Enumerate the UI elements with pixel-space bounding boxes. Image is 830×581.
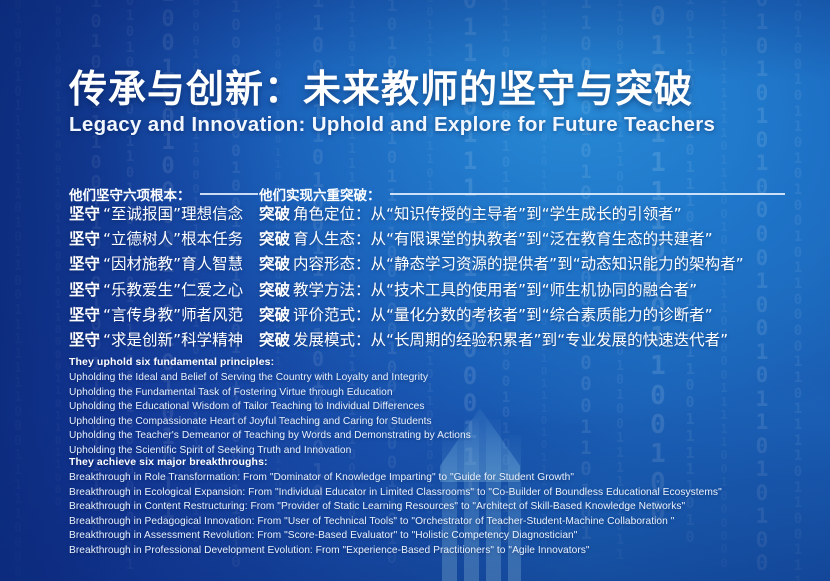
list-item-body: 教学方法：从“技术工具的使用者”到“师生机协同的融合者” [293, 281, 697, 299]
list-item-body: “言传身教”师者风范 [103, 306, 243, 324]
list-item-body: 评价范式：从“量化分数的考核者”到“综合素质能力的诊断者” [293, 306, 713, 324]
list-item-body: 角色定位：从“知识传授的主导者”到“学生成长的引领者” [293, 205, 682, 223]
list-item: Breakthrough in Professional Development… [69, 544, 722, 559]
en-breakthroughs-heading: They achieve six major breakthroughs: [69, 456, 722, 468]
list-item-tag: 坚守 [69, 205, 100, 223]
list-item-body: “至诚报国”理想信念 [103, 205, 243, 223]
list-item: 突破教学方法：从“技术工具的使用者”到“师生机协同的融合者” [259, 278, 697, 300]
en-breakthroughs-block: They achieve six major breakthroughs: Br… [69, 456, 722, 559]
list-item-tag: 突破 [259, 281, 290, 299]
page-title-cn: 传承与创新：未来教师的坚守与突破 [69, 58, 693, 113]
list-item: Breakthrough in Pedagogical Innovation: … [69, 515, 722, 530]
list-item-tag: 坚守 [69, 306, 100, 324]
list-item: 坚守“因材施教”育人智慧 [69, 252, 243, 274]
en-principles-heading: They uphold six fundamental principles: [69, 356, 471, 368]
list-item-body: “乐教爱生”仁爱之心 [103, 281, 243, 299]
list-item-body: “立德树人”根本任务 [103, 230, 243, 248]
list-item-tag: 突破 [259, 205, 290, 223]
list-item-tag: 坚守 [69, 255, 100, 273]
list-item: Breakthrough in Assessment Revolution: F… [69, 529, 722, 544]
list-item-tag: 坚守 [69, 281, 100, 299]
list-item-body: “求是创新”科学精神 [103, 331, 243, 349]
list-item-tag: 突破 [259, 306, 290, 324]
list-item: 突破评价范式：从“量化分数的考核者”到“综合素质能力的诊断者” [259, 303, 713, 325]
list-item-body: 发展模式：从“长周期的经验积累者”到“专业发展的快速迭代者” [293, 331, 728, 349]
list-item: 坚守“至诚报国”理想信念 [69, 202, 243, 224]
list-item: Upholding the Teacher's Demeanor of Teac… [69, 429, 471, 444]
heading-rule [390, 193, 785, 195]
page-title-en: Legacy and Innovation: Uphold and Explor… [69, 113, 715, 137]
list-item: 坚守“言传身教”师者风范 [69, 303, 243, 325]
list-item-body: “因材施教”育人智慧 [103, 255, 243, 273]
list-item: Upholding the Ideal and Belief of Servin… [69, 371, 471, 386]
list-item: 突破育人生态：从“有限课堂的执教者”到“泛在教育生态的共建者” [259, 227, 713, 249]
list-item-tag: 坚守 [69, 331, 100, 349]
poster-canvas: 1 0 0 1 0 0 0 1 0 1 1 1 1 1 1 1 0 1 0 1 … [0, 0, 830, 581]
list-item-tag: 突破 [259, 230, 290, 248]
list-item-tag: 坚守 [69, 230, 100, 248]
list-item: 坚守“求是创新”科学精神 [69, 328, 243, 350]
list-item: Upholding the Compassionate Heart of Joy… [69, 415, 471, 430]
list-item-tag: 突破 [259, 255, 290, 273]
list-item-tag: 突破 [259, 331, 290, 349]
list-item: Breakthrough in Content Restructuring: F… [69, 500, 722, 515]
en-principles-lines: Upholding the Ideal and Belief of Servin… [69, 371, 471, 459]
left-column-heading: 他们坚守六项根本： [69, 184, 258, 204]
list-item: Upholding the Fundamental Task of Foster… [69, 386, 471, 401]
list-item: 突破角色定位：从“知识传授的主导者”到“学生成长的引领者” [259, 202, 682, 224]
list-item-body: 育人生态：从“有限课堂的执教者”到“泛在教育生态的共建者” [293, 230, 713, 248]
list-item: Upholding the Educational Wisdom of Tail… [69, 400, 471, 415]
list-item: 坚守“乐教爱生”仁爱之心 [69, 278, 243, 300]
right-column-heading: 他们实现六重突破： [259, 184, 785, 204]
left-column-heading-label: 他们坚守六项根本： [69, 184, 191, 204]
list-item: 突破内容形态：从“静态学习资源的提供者”到“动态知识能力的架构者” [259, 252, 744, 274]
list-item: 坚守“立德树人”根本任务 [69, 227, 243, 249]
heading-rule [200, 193, 258, 195]
en-principles-block: They uphold six fundamental principles: … [69, 356, 471, 459]
list-item: Breakthrough in Ecological Expansion: Fr… [69, 486, 722, 501]
right-column-heading-label: 他们实现六重突破： [259, 184, 381, 204]
list-item: Breakthrough in Role Transformation: Fro… [69, 471, 722, 486]
list-item-body: 内容形态：从“静态学习资源的提供者”到“动态知识能力的架构者” [293, 255, 744, 273]
list-item: 突破发展模式：从“长周期的经验积累者”到“专业发展的快速迭代者” [259, 328, 728, 350]
en-breakthroughs-lines: Breakthrough in Role Transformation: Fro… [69, 471, 722, 559]
